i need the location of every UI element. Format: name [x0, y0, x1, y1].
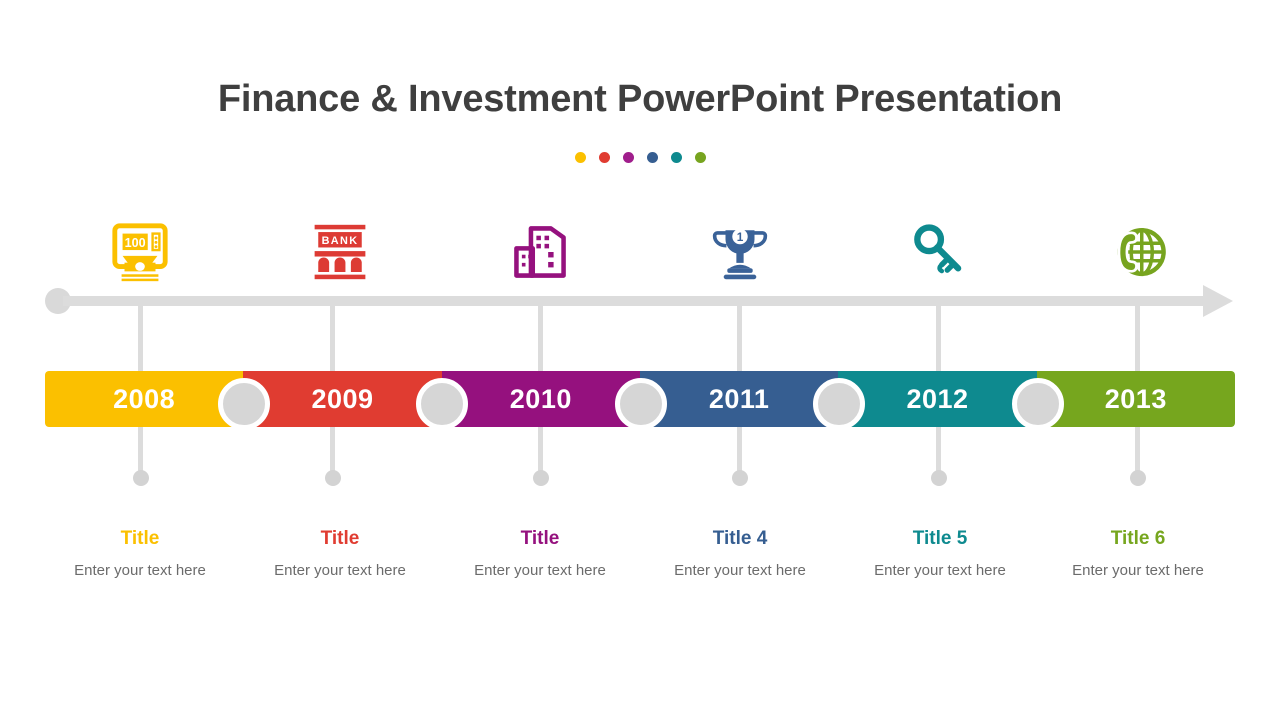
caption-cell-1: Title Enter your text here	[40, 528, 240, 580]
icon-row: 100 BANK	[0, 212, 1280, 292]
year-segment-2008[interactable]: 2008	[45, 371, 243, 427]
connector-dot-1	[133, 470, 149, 486]
svg-text:BANK: BANK	[322, 235, 359, 247]
caption-text-1[interactable]: Enter your text here	[40, 562, 240, 580]
timeline-track	[63, 296, 1213, 306]
caption-cell-5: Title 5 Enter your text here	[840, 528, 1040, 580]
svg-text:1: 1	[737, 231, 744, 244]
connector-dot-3	[533, 470, 549, 486]
year-segment-2012[interactable]: 2012	[838, 371, 1036, 427]
year-segment-2013[interactable]: 2013	[1037, 371, 1235, 427]
caption-title-1: Title	[40, 528, 240, 550]
accent-dot-4	[647, 152, 658, 163]
slide-canvas: Finance & Investment PowerPoint Presenta…	[0, 0, 1280, 720]
connector-line-bottom-5	[936, 427, 941, 475]
caption-text-3[interactable]: Enter your text here	[440, 562, 640, 580]
caption-title-2: Title	[240, 528, 440, 550]
accent-dot-6	[695, 152, 706, 163]
year-segment-2010[interactable]: 2010	[442, 371, 640, 427]
icon-cell-6	[1040, 212, 1240, 292]
connector-line-top-3	[538, 300, 543, 372]
icon-cell-5	[840, 212, 1040, 292]
connector-dot-5	[931, 470, 947, 486]
accent-dot-3	[623, 152, 634, 163]
icon-cell-2: BANK	[240, 212, 440, 292]
connector-line-bottom-3	[538, 427, 543, 475]
segment-divider-knob-2	[416, 378, 468, 430]
atm-cash-dispenser-icon: 100	[109, 221, 171, 283]
caption-cell-4: Title 4 Enter your text here	[640, 528, 840, 580]
caption-text-6[interactable]: Enter your text here	[1038, 562, 1238, 580]
connector-line-bottom-2	[330, 427, 335, 475]
connector-line-bottom-6	[1135, 427, 1140, 475]
trophy-icon: 1	[711, 223, 769, 281]
icon-cell-1: 100	[40, 212, 240, 292]
year-segment-2009[interactable]: 2009	[243, 371, 441, 427]
connector-line-top-5	[936, 300, 941, 372]
segment-divider-knob-5	[1012, 378, 1064, 430]
accent-dot-1	[575, 152, 586, 163]
caption-title-5: Title 5	[840, 528, 1040, 550]
caption-row: Title Enter your text here Title Enter y…	[0, 528, 1280, 598]
connector-line-top-2	[330, 300, 335, 372]
page-title: Finance & Investment PowerPoint Presenta…	[0, 78, 1280, 121]
svg-text:100: 100	[125, 236, 146, 250]
accent-dot-5	[671, 152, 682, 163]
icon-cell-4: 1	[640, 212, 840, 292]
caption-title-3: Title	[440, 528, 640, 550]
caption-title-4: Title 4	[640, 528, 840, 550]
connector-dot-4	[732, 470, 748, 486]
segment-divider-knob-3	[615, 378, 667, 430]
caption-title-6: Title 6	[1038, 528, 1238, 550]
connector-line-top-4	[737, 300, 742, 372]
connector-line-bottom-4	[737, 427, 742, 475]
caption-text-4[interactable]: Enter your text here	[640, 562, 840, 580]
year-segment-2011[interactable]: 2011	[640, 371, 838, 427]
connector-line-bottom-1	[138, 427, 143, 475]
caption-text-2[interactable]: Enter your text here	[240, 562, 440, 580]
connector-line-top-1	[138, 300, 143, 372]
key-icon	[911, 223, 969, 281]
icon-cell-3	[440, 212, 640, 292]
accent-dot-2	[599, 152, 610, 163]
caption-cell-6: Title 6 Enter your text here	[1038, 528, 1238, 580]
globe-phone-icon	[1112, 224, 1168, 280]
city-buildings-icon	[511, 223, 569, 281]
segment-divider-knob-4	[813, 378, 865, 430]
caption-text-5[interactable]: Enter your text here	[840, 562, 1040, 580]
caption-cell-3: Title Enter your text here	[440, 528, 640, 580]
bank-building-icon: BANK	[311, 223, 369, 281]
connector-dot-2	[325, 470, 341, 486]
timeline-arrow-head	[1203, 285, 1233, 317]
connector-dot-6	[1130, 470, 1146, 486]
caption-cell-2: Title Enter your text here	[240, 528, 440, 580]
segment-divider-knob-1	[218, 378, 270, 430]
connector-line-top-6	[1135, 300, 1140, 372]
accent-dot-row	[0, 152, 1280, 163]
